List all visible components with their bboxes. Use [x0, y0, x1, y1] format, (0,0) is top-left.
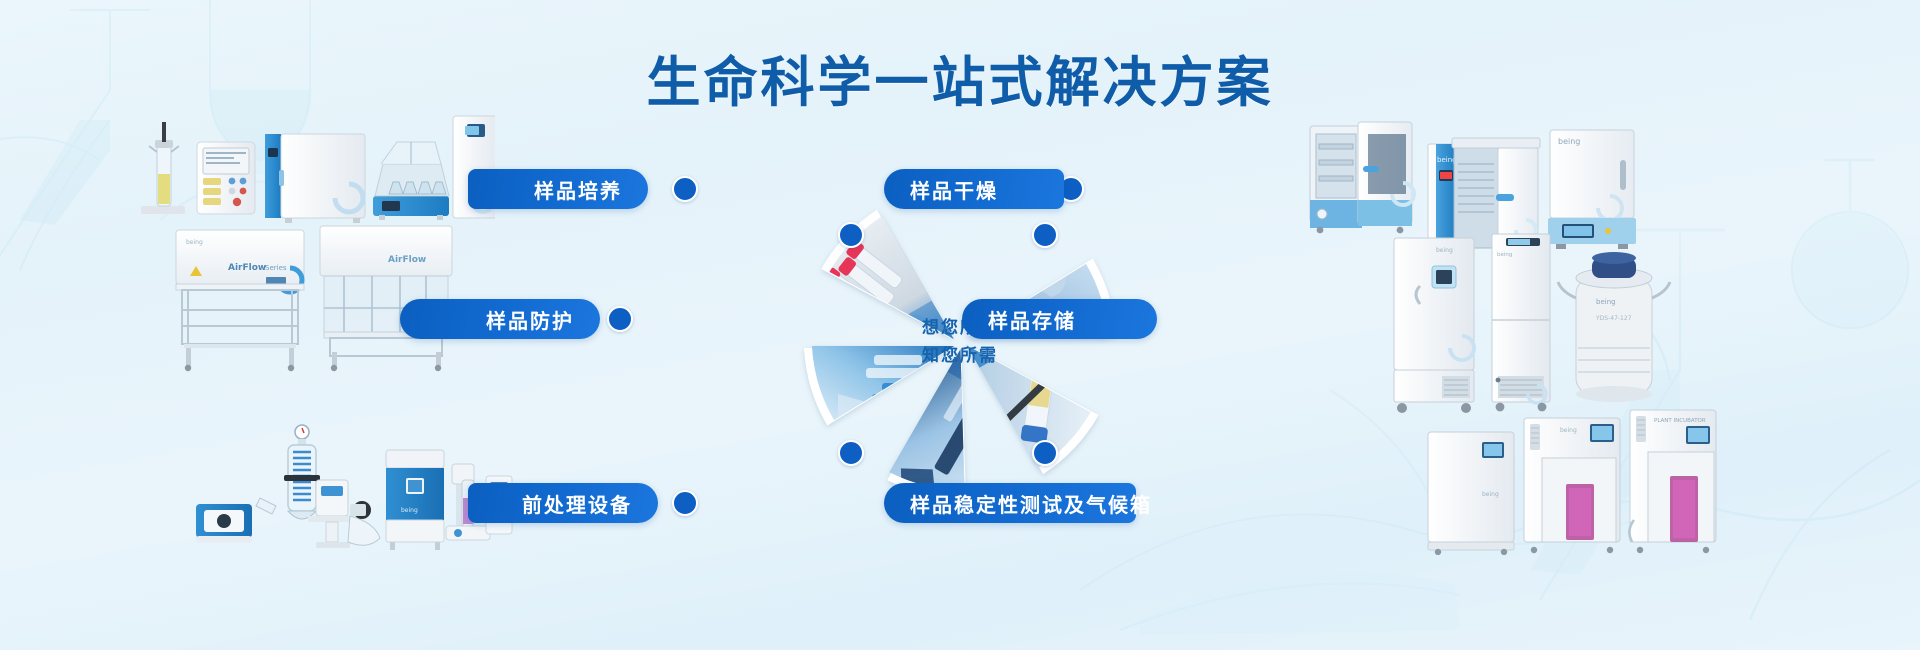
svg-text:being: being: [1560, 427, 1577, 434]
category-label-text: 前处理设备: [522, 489, 632, 518]
svg-text:being: being: [401, 507, 418, 514]
category-label-stability[interactable]: 样品稳定性测试及气候箱: [884, 483, 1136, 523]
connector-dot-pretreat: [672, 490, 698, 516]
connector-dot-wheel-testtubes: [838, 440, 864, 466]
solutions-wheel: [778, 160, 1142, 524]
category-label-text: 样品稳定性测试及气候箱: [910, 489, 1152, 518]
shaking-incubator-illustration: [373, 142, 449, 220]
equipment-group-storage: being being: [1380, 228, 1680, 423]
ultra-low-freezer-illustration: being: [1394, 238, 1474, 413]
co2-incubator-illustration: [265, 134, 365, 223]
svg-text:AirFlow: AirFlow: [388, 255, 426, 265]
banner-stage: 生命科学一站式解决方案: [0, 0, 1920, 650]
rotary-evaporator-illustration: [256, 425, 380, 548]
chiller-illustration: being: [386, 450, 444, 550]
stability-chamber-illustration: being: [1428, 432, 1514, 555]
category-label-storage[interactable]: 样品存储: [962, 299, 1157, 339]
liquid-nitrogen-tank-illustration: being YDS-47-127: [1558, 252, 1670, 402]
svg-text:YDS-47-127: YDS-47-127: [1595, 315, 1632, 322]
connector-dot-cultivation: [672, 176, 698, 202]
connector-dot-wheel-pipetting: [1032, 222, 1058, 248]
svg-text:Series: Series: [265, 264, 287, 272]
category-label-text: 样品干燥: [910, 175, 998, 204]
climate-chamber-illustration: being: [1524, 418, 1620, 553]
equipment-group-stability: being being PLAN: [1420, 400, 1720, 555]
category-label-text: 样品存储: [988, 305, 1076, 334]
page-title: 生命科学一站式解决方案: [0, 38, 1920, 117]
lab-refrigerator-illustration: being: [1492, 234, 1550, 411]
svg-text:being: being: [1482, 491, 1499, 498]
connector-dot-wheel-glassware: [1032, 440, 1058, 466]
category-label-pretreatment[interactable]: 前处理设备: [468, 483, 658, 523]
magnetic-stirrer-illustration: [196, 504, 252, 543]
svg-text:being: being: [1436, 247, 1453, 254]
svg-text:being: being: [1596, 298, 1616, 306]
equipment-group-cultivation: [135, 112, 495, 232]
svg-text:AirFlow: AirFlow: [228, 263, 266, 273]
svg-text:being: being: [1558, 137, 1580, 146]
category-label-text: 样品防护: [486, 305, 574, 334]
connector-dot-wheel-microscope: [838, 222, 864, 248]
airflow-clean-bench-illustration: being AirFlow Series: [176, 230, 304, 371]
category-label-drying[interactable]: 样品干燥: [884, 169, 1064, 209]
svg-text:PLANT INCUBATOR: PLANT INCUBATOR: [1654, 418, 1706, 424]
plant-incubator-illustration: PLANT INCUBATOR: [1629, 410, 1716, 553]
category-label-text: 样品培养: [534, 175, 622, 204]
category-label-cultivation[interactable]: 样品培养: [468, 169, 648, 209]
bioreactor-illustration: [141, 122, 185, 214]
svg-text:being: being: [1497, 252, 1512, 258]
connector-dot-protection: [607, 306, 633, 332]
category-label-protection[interactable]: 样品防护: [400, 299, 600, 339]
svg-text:being: being: [186, 239, 203, 246]
vacuum-drying-oven-illustration: [1310, 122, 1414, 233]
equipment-group-protection: being AirFlow Series AirFlow: [168, 222, 478, 372]
control-console-illustration: [197, 142, 255, 214]
